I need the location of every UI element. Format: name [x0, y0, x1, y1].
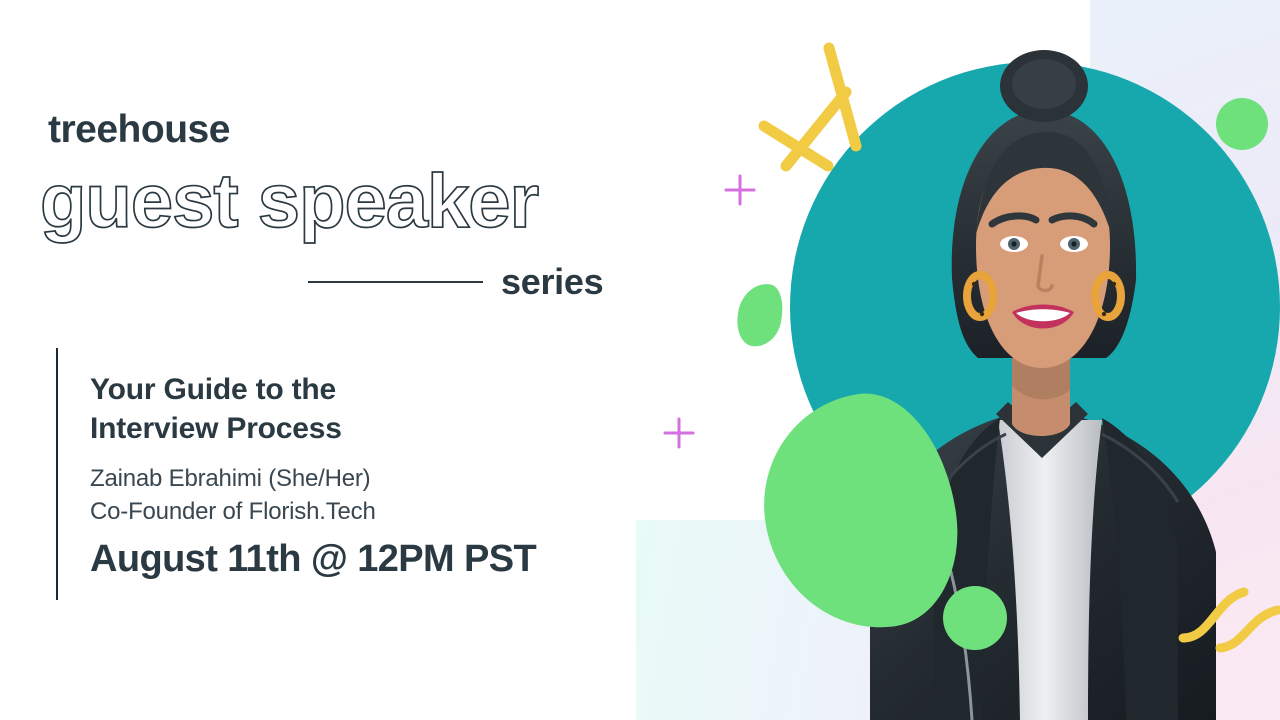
speaker-name: Zainab Ebrahimi (She/Her): [90, 462, 560, 495]
speaker-role: Co-Founder of Florish.Tech: [90, 495, 560, 528]
vertical-accent-rule: [56, 348, 58, 600]
treehouse-wordmark: treehouse: [48, 108, 230, 152]
magenta-plus-upper: [726, 176, 754, 204]
talk-title-line2: Interview Process: [90, 409, 560, 448]
green-circle-bottom: [943, 586, 1007, 650]
slide-canvas: treehouse guest speaker series Your Guid…: [0, 0, 1280, 720]
speaker-info: Zainab Ebrahimi (She/Her) Co-Founder of …: [90, 462, 560, 528]
series-divider-rule: [308, 281, 483, 283]
magenta-plus-lower: [665, 419, 693, 447]
headline-guest-speaker: guest speaker: [40, 158, 538, 245]
series-label: series: [501, 261, 603, 303]
series-row: series: [308, 262, 628, 302]
event-datetime: August 11th @ 12PM PST: [90, 538, 536, 581]
green-blob-bean: [732, 279, 788, 351]
talk-title-line1: Your Guide to the: [90, 370, 560, 409]
talk-title: Your Guide to the Interview Process: [90, 370, 560, 448]
